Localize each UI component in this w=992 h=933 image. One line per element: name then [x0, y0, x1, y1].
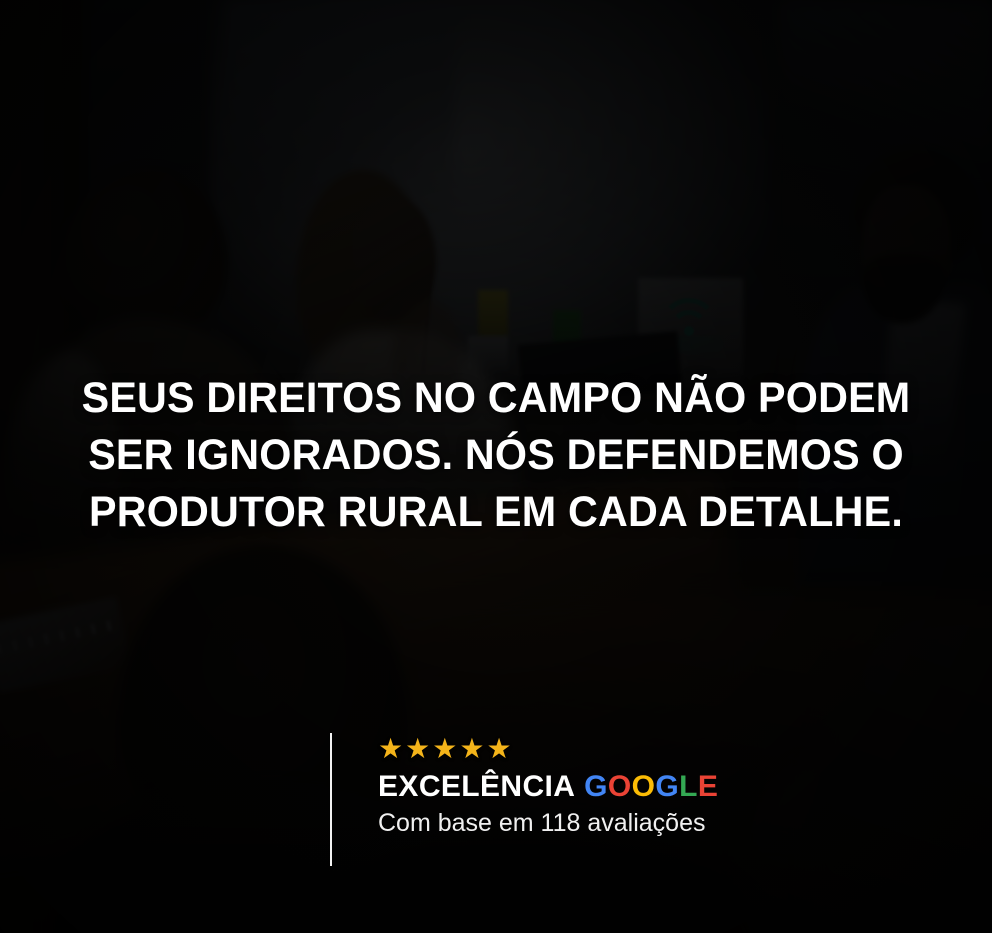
headline-line-2: SER IGNORADOS. NÓS DEFENDEMOS O — [20, 427, 972, 484]
google-review-badge: ★★★★★ EXCELÊNCIA GOOGLE Com base em 118 … — [330, 733, 718, 866]
promo-banner: SEUS DIREITOS NO CAMPO NÃO PODEM SER IGN… — [0, 0, 992, 933]
google-letter-3: O — [632, 770, 656, 803]
headline-line-3: PRODUTOR RURAL EM CADA DETALHE. — [20, 484, 972, 541]
headline-line-1: SEUS DIREITOS NO CAMPO NÃO PODEM — [20, 370, 972, 427]
badge-subtitle: Com base em 118 avaliações — [378, 808, 718, 838]
star-icon: ★ — [378, 735, 403, 763]
star-rating: ★★★★★ — [378, 735, 718, 763]
content-layer: SEUS DIREITOS NO CAMPO NÃO PODEM SER IGN… — [0, 0, 992, 933]
google-letter-4: G — [655, 770, 679, 803]
google-letter-2: O — [608, 770, 632, 803]
star-icon: ★ — [459, 735, 484, 763]
badge-title: EXCELÊNCIA GOOGLE — [378, 770, 718, 804]
badge-title-prefix: EXCELÊNCIA — [378, 770, 575, 803]
google-letter-5: L — [679, 770, 698, 803]
star-icon: ★ — [405, 735, 430, 763]
star-icon: ★ — [432, 735, 457, 763]
google-letter-1: G — [584, 770, 608, 803]
google-letter-6: E — [698, 770, 718, 803]
headline: SEUS DIREITOS NO CAMPO NÃO PODEM SER IGN… — [20, 370, 972, 541]
google-wordmark: GOOGLE — [584, 770, 718, 803]
star-icon: ★ — [486, 735, 511, 763]
badge-body: ★★★★★ EXCELÊNCIA GOOGLE Com base em 118 … — [332, 733, 718, 866]
